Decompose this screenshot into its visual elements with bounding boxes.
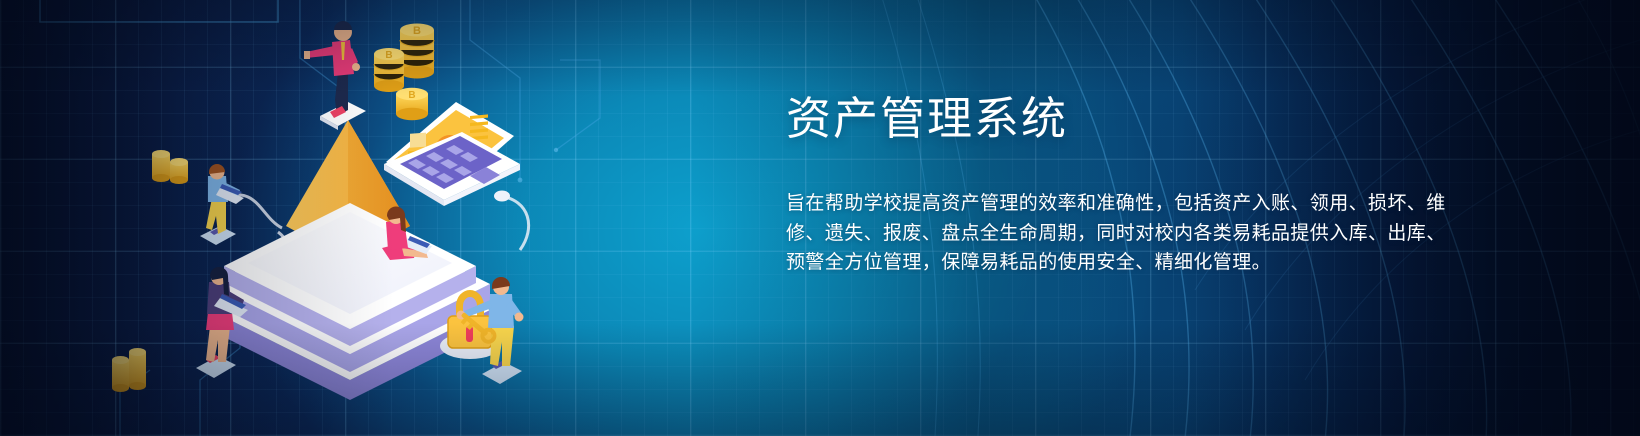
banner-description: 旨在帮助学校提高资产管理的效率和准确性，包括资产入账、领用、损坏、维修、遗失、报… [786, 189, 1462, 278]
page-title: 资产管理系统 [786, 96, 1486, 141]
banner-text-column: 资产管理系统 旨在帮助学校提高资产管理的效率和准确性，包括资产入账、领用、损坏、… [786, 96, 1486, 278]
hero-banner: B B B [0, 0, 1640, 436]
